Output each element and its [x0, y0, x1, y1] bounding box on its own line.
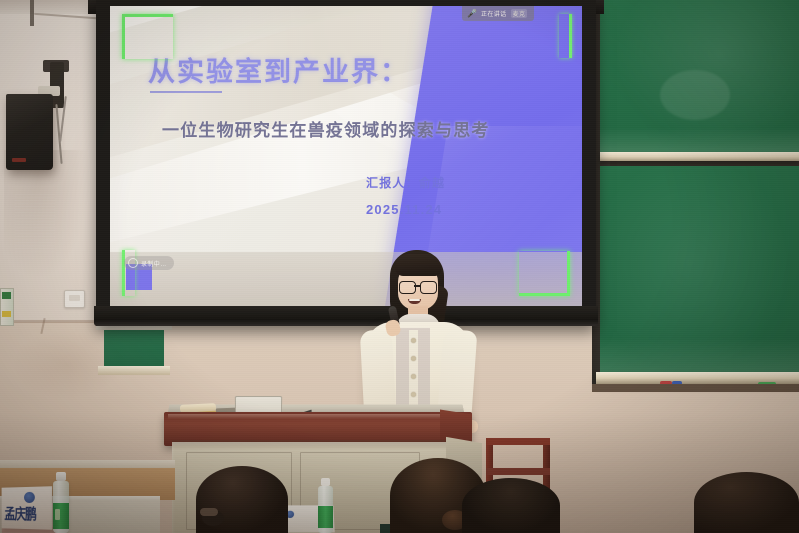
institution-logo-icon	[24, 492, 35, 503]
chalkboard-sliver-left	[104, 330, 164, 368]
slide-lower-band	[110, 252, 582, 306]
name-card-name: 孟庆鹏	[4, 503, 35, 525]
presentation-slide: 从实验室到产业界： 一位生物研究生在兽疫领域的探索与思考 汇报人：俞越 2025…	[110, 6, 582, 306]
podium-body-shadow	[172, 440, 460, 450]
mic-speaker-tag: 麦克	[511, 9, 528, 18]
presenter-left-arm	[360, 329, 396, 417]
audience-head	[462, 478, 560, 533]
chalkboard-bottom-rail	[592, 384, 799, 392]
chalkboard-sliver-ledge	[98, 366, 170, 375]
slide-corner-bracket-top-left	[122, 14, 173, 59]
name-card: 孟庆鹏	[2, 486, 53, 530]
chalk-dust-upper	[600, 128, 799, 154]
wall-speaker	[6, 94, 53, 170]
speaker-grille	[15, 194, 55, 252]
audience-head	[694, 472, 799, 533]
presenter-fringe	[395, 254, 441, 276]
mic-status-badge[interactable]: 🎤 正在讲话 麦克	[462, 6, 534, 21]
slide-subtitle: 一位生物研究生在兽疫领域的探索与思考	[162, 116, 490, 141]
projector-screen-surface: 从实验室到产业界： 一位生物研究生在兽疫领域的探索与思考 汇报人：俞越 2025…	[110, 6, 582, 306]
slide-corner-bracket-bottom-right	[519, 251, 570, 296]
slide-date: 2025.11.24	[366, 202, 442, 217]
chalkboard-ledge-upper	[600, 152, 799, 161]
recording-chip[interactable]: 录制中…	[124, 256, 174, 270]
microphone-icon: 🎤	[467, 10, 477, 18]
recording-chip-label: 录制中…	[141, 259, 167, 268]
podium-rail-highlight	[168, 414, 466, 419]
projector-screen-bottom-bar	[94, 306, 598, 326]
slide-title: 从实验室到产业界：	[148, 50, 409, 89]
wall-utility-box	[0, 288, 14, 326]
slide-presenter-line: 汇报人：俞越	[366, 174, 445, 191]
water-bottle-left	[53, 481, 69, 533]
chalk-streak	[660, 70, 730, 120]
lecture-photo-scene: 从实验室到产业界： 一位生物研究生在兽疫领域的探索与思考 汇报人：俞越 2025…	[0, 0, 799, 533]
slide-corner-bracket-top-right	[559, 14, 572, 58]
water-bottle-center	[318, 486, 333, 533]
slide-title-rule	[150, 91, 222, 93]
wall-power-outlet	[64, 290, 85, 308]
record-icon	[128, 258, 138, 268]
audience-head	[196, 466, 288, 533]
mic-status-text: 正在讲话	[481, 9, 507, 18]
presenter-glasses	[398, 281, 438, 292]
